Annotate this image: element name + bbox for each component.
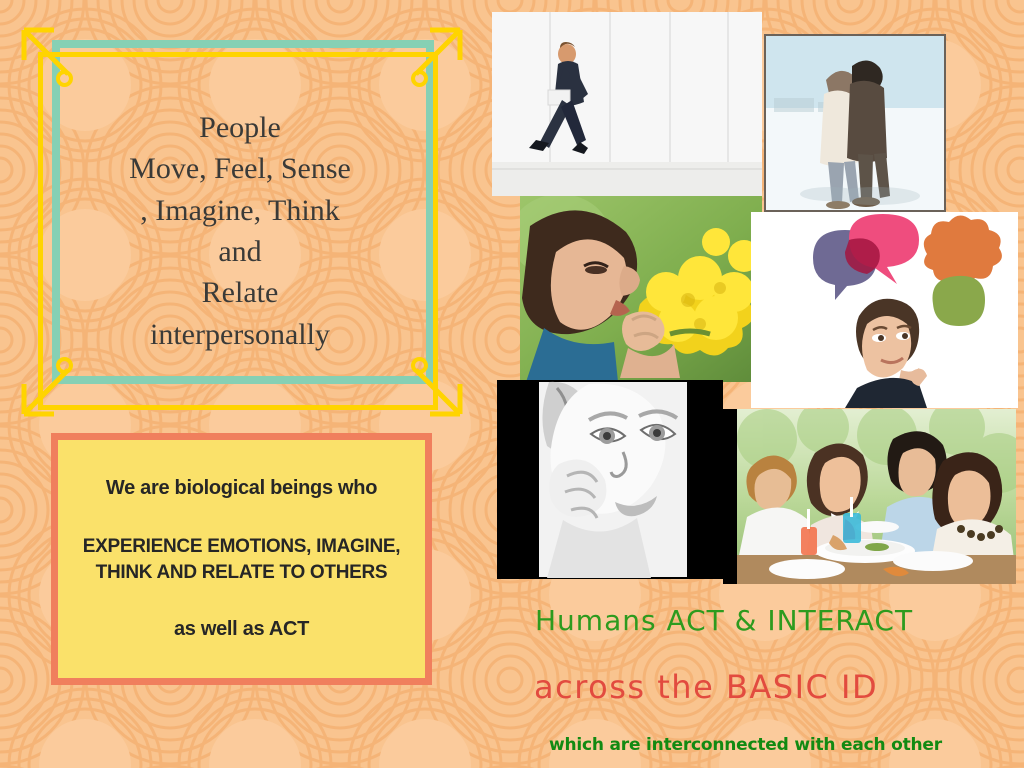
caption-interconnected: which are interconnected with each other <box>549 735 942 755</box>
photo-couple-in-snow <box>764 34 946 212</box>
slide-canvas: People Move, Feel, Sense , Imagine, Thin… <box>0 0 1024 768</box>
statement-line-2b: THINK AND RELATE TO OTHERS <box>83 560 401 586</box>
photo-businessman-walking <box>492 12 762 196</box>
headline-line-6: interpersonally <box>150 314 330 355</box>
headline-line-4: and <box>218 231 261 272</box>
statement-line-2a: EXPERIENCE EMOTIONS, IMAGINE, <box>83 534 401 560</box>
headline-line-2: Move, Feel, Sense <box>129 148 351 189</box>
photo-woman-smelling-flowers <box>520 196 762 382</box>
headline-text: People Move, Feel, Sense , Imagine, Thin… <box>44 76 436 386</box>
photo-woman-thinking-speech-bubbles <box>751 212 1018 408</box>
frame-corner-top-right-icon <box>412 18 472 78</box>
caption-humans-act-interact: Humans ACT & INTERACT <box>535 604 913 637</box>
headline-frame-block: People Move, Feel, Sense , Imagine, Thin… <box>12 18 480 428</box>
statement-line-1: We are biological beings who <box>106 477 377 500</box>
caption-across-basic-id: across the BASIC ID <box>534 668 878 706</box>
statement-line-2: EXPERIENCE EMOTIONS, IMAGINE, THINK AND … <box>83 534 401 585</box>
photo-woman-daydreaming-bw <box>497 380 723 579</box>
statement-box: We are biological beings who EXPERIENCE … <box>51 433 432 685</box>
headline-line-3: , Imagine, Think <box>140 190 339 231</box>
frame-corner-top-left-icon <box>12 18 72 78</box>
headline-line-5: Relate <box>202 272 279 313</box>
photo-friends-dining-outdoors <box>723 409 1016 584</box>
statement-line-3: as well as ACT <box>174 618 309 641</box>
headline-line-1: People <box>199 107 281 148</box>
